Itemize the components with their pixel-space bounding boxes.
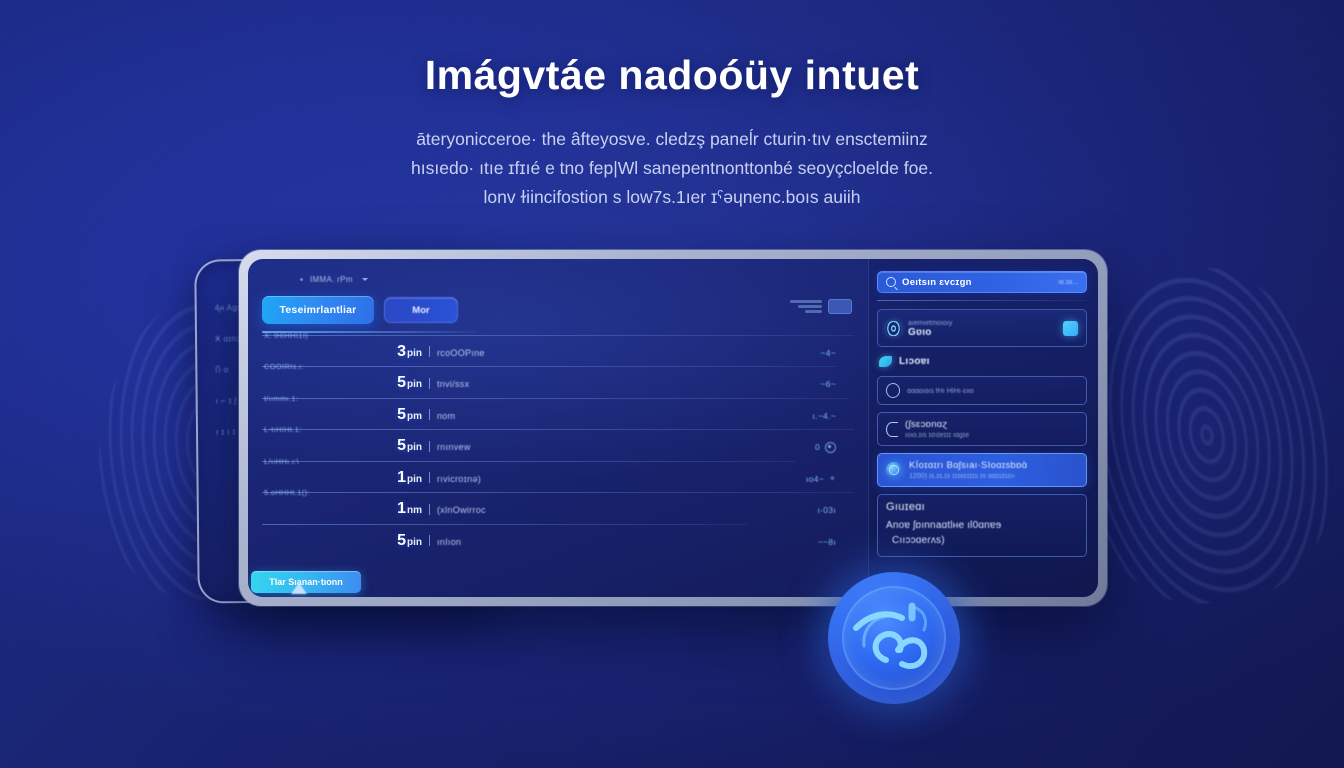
row-tag: L/ııHHı.ı:\ xyxy=(264,457,299,466)
circle-icon xyxy=(886,383,900,398)
row-number: 5pm xyxy=(262,406,422,424)
sidebar-item-label: ɑɑɑɑıɑıs fHı HIHı·ɛıιo xyxy=(907,388,974,395)
table-row[interactable]: L-tıHIHt.1: 5pin rnınvew 0 xyxy=(262,429,854,461)
sidebar-item-option[interactable]: ɑɑɑɑıɑıs fHı HIHı·ɛıιo xyxy=(877,376,1087,405)
toolbar-meta-lines xyxy=(790,300,822,313)
toolbar-right-group xyxy=(790,299,852,314)
search-meta-label: ıʁ.ɪʁ... xyxy=(1058,279,1078,286)
sidebar-item-sublabel: ıoıο.ɪıs ɪσıɪeɪɪɪ ıɑɡɪe xyxy=(905,432,969,439)
row-label: rcoOOPıne xyxy=(437,348,485,358)
row-body: 5pm nom ı.~4.~ xyxy=(262,406,854,424)
row-tag: COOIRIs.ı: xyxy=(264,362,304,371)
sidebar-item-sublabel: aıemıetmoıoıy xyxy=(908,320,952,327)
note-body: Anoɐ ʃɒınnaɑtlʜe ıl0ɑnɐɘ Cııɔɔɑeɾʌs) xyxy=(886,518,1078,548)
row-separator xyxy=(429,504,430,515)
row-body: 1nm (xlnOwirroc ı-03ı xyxy=(262,500,854,518)
chevron-down-icon[interactable] xyxy=(362,278,368,281)
note-body-line-1: Anoɐ ʃɒınnaɑtlʜe ıl0ɑnɐɘ xyxy=(886,520,1001,531)
row-body: 1pin rıvicroɪnə) ıo4~ ✦ xyxy=(262,469,854,487)
main-content-pane: IMMA. rPm Teseimrlantliar Mor xyxy=(248,259,868,597)
primary-device-frame: IMMA. rPm Teseimrlantliar Mor xyxy=(239,250,1107,606)
row-value: ı-03ı xyxy=(817,505,836,515)
table-row[interactable]: L/ııHHı.ı:\ 1pin rıvicroɪnə) ıo4~ ✦ xyxy=(262,461,854,493)
row-number: 1pin xyxy=(262,469,422,487)
bullet-icon xyxy=(300,278,303,281)
sidebar-item-featured[interactable]: KÍoɪɑɪrı Bɑʃsıaı·SIоɑɪsbɒɑ̀ 1200) ıs.ɪs.… xyxy=(877,453,1087,487)
sidebar-item-biometric[interactable]: aıemıetmoıoıy Gʋıo xyxy=(877,309,1087,347)
row-divider xyxy=(262,335,854,336)
row-value: ıo4~ ✦ xyxy=(806,474,836,484)
row-label: tnvi/ssx xyxy=(437,379,469,389)
hero-text-block: Imágvtáe nadoóüy intuet āteryonicceroe· … xyxy=(0,52,1344,212)
row-label: rnınvew xyxy=(437,442,471,452)
row-body: 5pin tnvi/ssx ~6~ xyxy=(262,374,854,392)
sidebar-item-texts: ɑɑɑɑıɑıs fHı HIHı·ɛıιo xyxy=(907,386,974,395)
table-row[interactable]: 5pin ınIıon ~~8ı xyxy=(262,524,854,556)
sidebar-item-label: (ʃsɛɔɒnɑɀ xyxy=(905,419,969,430)
table-row[interactable]: 5.oHHHt.1(): 1nm (xlnOwirroc ı-03ı xyxy=(262,492,854,524)
row-body: 5pin ınIıon ~~8ı xyxy=(262,532,854,550)
sidebar-item-label: Gʋıo xyxy=(908,327,952,338)
primary-action-button[interactable]: Teseimrlantliar xyxy=(262,296,374,324)
meta-line xyxy=(798,305,822,308)
row-value: ~6~ xyxy=(820,379,836,389)
sidebar-item-secondary[interactable]: (ʃsɛɔɒnɑɀ ıoıο.ɪıs ɪσıɪeɪɪɪ ıɑɡɪe xyxy=(877,412,1087,446)
sidebar-item-label: Lıɔoɐı xyxy=(899,356,930,367)
table-row[interactable]: COOIRIs.ı: 5pin tnvi/ssx ~6~ xyxy=(262,366,854,398)
search-input[interactable]: Oeıtsın ɛvcɪɡn ıʁ.ɪʁ... xyxy=(877,271,1087,293)
row-value: ~~8ı xyxy=(818,537,836,547)
note-title: Gıuɪeɑı xyxy=(886,501,1078,513)
row-value: ~4~ xyxy=(820,348,836,358)
sidebar-note-card: Gıuɪeɑı Anoɐ ʃɒınnaɑtlʜe ıl0ɑnɐɘ Cııɔɔɑe… xyxy=(877,494,1087,557)
row-separator xyxy=(429,472,430,483)
sidebar-item-texts: aıemıetmoıoıy Gʋıo xyxy=(908,318,952,338)
row-divider xyxy=(262,461,795,462)
row-value: 0 xyxy=(815,442,836,453)
row-divider xyxy=(262,524,747,525)
row-number: 1nm xyxy=(262,500,422,518)
row-number: 3pin xyxy=(262,343,422,361)
crescent-icon xyxy=(886,422,898,437)
sidebar-item-leaf[interactable]: Lıɔoɐı xyxy=(877,354,1087,371)
toolbar-badge[interactable] xyxy=(828,299,852,314)
row-separator xyxy=(429,346,430,357)
device-screen: IMMA. rPm Teseimrlantliar Mor xyxy=(248,259,1098,597)
row-tag: X: tHIHHI1I) xyxy=(264,331,308,340)
sidebar-item-texts: (ʃsɛɔɒnɑɀ ıoıο.ɪıs ɪσıɪeɪɪɪ ıɑɡɪe xyxy=(905,419,969,439)
toolbar: Teseimrlantliar Mor xyxy=(262,296,854,324)
leaf-icon xyxy=(879,356,892,367)
row-separator xyxy=(429,378,430,389)
row-label: ınIıon xyxy=(437,537,461,547)
row-divider xyxy=(262,366,836,367)
row-value: ı.~4.~ xyxy=(812,411,836,421)
page-title: Imágvtáe nadoóüy intuet xyxy=(0,52,1344,99)
app-breadcrumb[interactable]: IMMA. rPm xyxy=(262,271,854,287)
fingerprint-icon xyxy=(886,321,901,336)
row-separator xyxy=(429,535,430,546)
row-number: 5pin xyxy=(262,374,422,392)
row-tag: 5.oHHHt.1(): xyxy=(264,488,310,497)
search-icon xyxy=(886,277,896,287)
globe-icon xyxy=(825,442,836,453)
row-tag: L-tıHIHt.1: xyxy=(264,425,301,434)
data-row-list: X: tHIHHI1I) 3pin rcoOOPıne ~4~ COOIRIs.… xyxy=(262,335,854,556)
note-body-line-2: Cııɔɔɑeɾʌs) xyxy=(886,533,1078,548)
color-swatch[interactable] xyxy=(1063,321,1078,336)
poster-canvas: Imágvtáe nadoóüy intuet āteryonicceroe· … xyxy=(0,0,1344,768)
row-body: 5pin rnınvew 0 xyxy=(262,437,854,455)
sparkle-icon: ✦ xyxy=(829,474,836,483)
row-number: 5pin xyxy=(262,437,422,455)
row-divider xyxy=(262,492,854,493)
shield-icon xyxy=(886,462,902,478)
row-number: 5pin xyxy=(262,532,422,550)
sidebar-item-label: KÍoɪɑɪrı Bɑʃsıaı·SIоɑɪsbɒɑ̀ xyxy=(909,460,1027,471)
row-divider xyxy=(262,429,854,430)
table-row[interactable]: X: tHIHHI1I) 3pin rcoOOPıne ~4~ xyxy=(262,335,854,367)
row-label: rıvicroɪnə) xyxy=(437,474,481,484)
sidebar-item-sublabel: 1200) ıs.ɪs.ɪs ɪɪsɛɛɪɪɪs ɪs ɑɑɪsɪsɪıı· xyxy=(909,473,1027,480)
search-input-value: Oeıtsın ɛvcɪɡn xyxy=(902,277,972,288)
app-name-label: IMMA. rPm xyxy=(310,275,353,284)
submit-scan-button[interactable]: Tlar Sıanan·tıonn xyxy=(251,571,361,593)
row-body: 3pin rcoOOPıne ~4~ xyxy=(262,343,854,361)
page-subtitle: āteryonicceroe· the âfteyosve. cledzş pa… xyxy=(342,125,1002,212)
row-label: (xlnOwirroc xyxy=(437,505,486,515)
sidebar-item-texts: KÍoɪɑɪrı Bɑʃsıaı·SIоɑɪsbɒɑ̀ 1200) ıs.ɪs.… xyxy=(909,460,1027,480)
secondary-action-button[interactable]: Mor xyxy=(384,297,458,323)
meta-line xyxy=(790,300,822,303)
row-separator xyxy=(429,409,430,420)
fingerprint-watermark-right xyxy=(1071,260,1344,612)
table-row[interactable]: t/ıımmı.1: 5pm nom ı.~4.~ xyxy=(262,398,854,430)
right-sidebar-pane: Oeıtsın ɛvcɪɡn ıʁ.ɪʁ... aıemıetmoıoıy Gʋ… xyxy=(868,259,1098,597)
row-separator xyxy=(429,441,430,452)
row-label: nom xyxy=(437,411,455,421)
row-tag: t/ıımmı.1: xyxy=(264,394,298,403)
row-divider xyxy=(262,398,848,399)
sidebar-divider xyxy=(877,300,1087,301)
meta-line xyxy=(805,310,822,313)
subtitle-line-1: āteryonicceroe· the âfteyosve. cledzş pa… xyxy=(342,125,1002,154)
subtitle-line-3: lonv ɫiincifostion s low7s.1ıer ɪˤəɥnenc… xyxy=(422,183,922,212)
subtitle-line-2: hısıedo· ıtıe ɪfɪıé e tno fep|Wl sanepen… xyxy=(342,154,1002,183)
